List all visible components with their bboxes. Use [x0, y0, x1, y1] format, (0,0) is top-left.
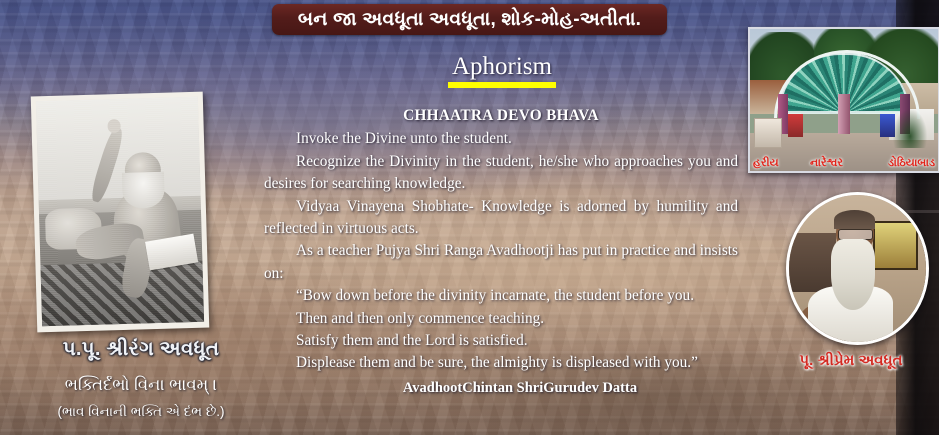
temple-label-right: ડોઠિયાબાડ: [888, 157, 935, 170]
guru-portrait-circle: [786, 192, 929, 345]
saint-name-caption: પ.પૂ. શ્રીરંગ અવધૂત: [16, 338, 266, 361]
temple-gate-photo: હરીય નારેશ્વર ડોઠિયાબાડ: [748, 27, 939, 173]
body-paragraph: Then and then only commence teaching.: [264, 308, 738, 330]
temple-label-left: હરીય: [753, 157, 779, 170]
temple-panel-red: [788, 114, 803, 137]
body-paragraph: Displease them and be sure, the almighty…: [264, 352, 738, 374]
poster-canvas: બન જા અવધૂતા અવધૂતા, શોક-મોહ-અતીતા. Apho…: [0, 0, 939, 435]
body-title: CHHAATRA DEVO BHAVA: [264, 105, 738, 127]
body-paragraph: Invoke the Divine unto the student.: [264, 128, 738, 150]
title-underline: [448, 82, 556, 88]
portrait-wall-picture: [873, 221, 918, 269]
body-paragraph: “Bow down before the divinity incarnate,…: [264, 285, 738, 307]
banner-text: બન જા અવધૂતા અવધૂતા, શોક-મોહ-અતીતા.: [298, 9, 641, 31]
temple-label-center: નારેશ્વર: [810, 157, 843, 170]
portrait-hair: [834, 210, 875, 229]
body-signature: AvadhootChintan ShriGurudev Datta: [264, 378, 738, 399]
portrait-long-beard: [831, 239, 875, 310]
body-paragraph: Recognize the Divinity in the student, h…: [264, 151, 738, 196]
sanskrit-quote-translation: (ભાવ વિનાની ભક્તિ એ દંભ છે.): [16, 404, 266, 420]
top-banner: બન જા અવધૂતા અવધૂતા, શોક-મોહ-અતીતા.: [272, 4, 667, 35]
body-paragraph: Satisfy them and the Lord is satisfied.: [264, 330, 738, 352]
portrait-glasses: [838, 229, 873, 240]
body-paragraph: Vidyaa Vinayena Shobhate- Knowledge is a…: [264, 196, 738, 241]
temple-small-shrine: [754, 118, 782, 148]
portrait-chair: [789, 233, 836, 292]
arch-center-trunk: [838, 94, 849, 134]
guru-name-caption: પૂ. શ્રીપ્રેમ અવધૂત: [762, 352, 939, 369]
temple-potted-plant: [893, 109, 927, 149]
aphorism-body: CHHAATRA DEVO BHAVA Invoke the Divine un…: [264, 105, 738, 399]
photo-film-grain: [36, 97, 204, 326]
aphorism-heading-group: Aphorism: [432, 54, 572, 88]
saint-photo-image: [36, 97, 204, 326]
sanskrit-quote-line: ભક્તિર્દંભો વિના ભાવમ્ ।: [16, 376, 266, 395]
page-title: Aphorism: [432, 54, 572, 80]
body-paragraph: As a teacher Pujya Shri Ranga Avadhootji…: [264, 240, 738, 285]
saint-photo-frame: [31, 92, 210, 333]
